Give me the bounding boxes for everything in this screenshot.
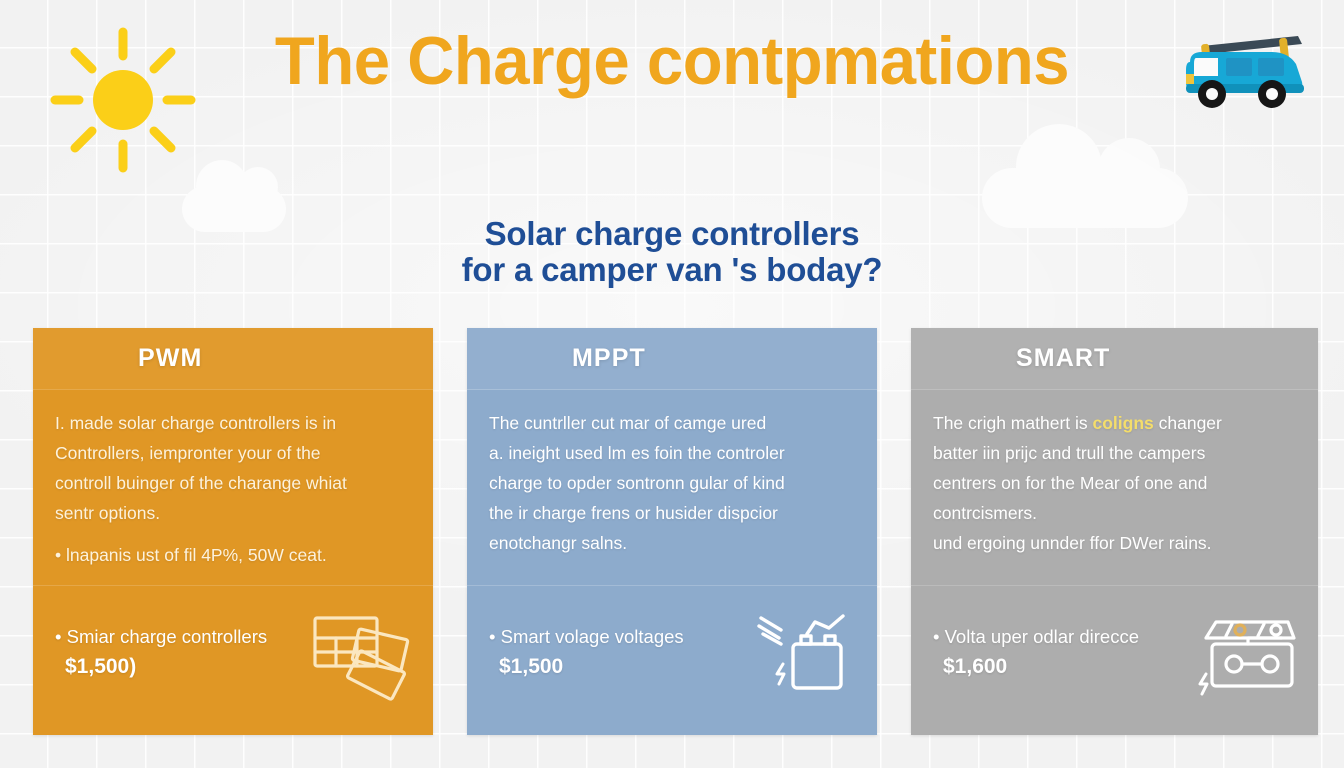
card-pwm-description: I. made solar charge controllers is in C… xyxy=(55,408,411,528)
card-pwm-body-line-1: I. made solar charge controllers is in xyxy=(55,413,336,433)
card-smart-header: SMART xyxy=(911,328,1318,390)
card-smart-body-line-3: centrers on for the Mear of one and xyxy=(933,473,1207,493)
card-pwm-footer: • Smiar charge controllers $1,500) xyxy=(33,585,433,735)
card-smart-highlight: coligns xyxy=(1093,413,1154,433)
card-mppt-footer-text: • Smart volage voltages $1,500 xyxy=(489,622,684,682)
solar-generator-box-icon xyxy=(1192,608,1300,704)
card-smart-title: SMART xyxy=(1016,344,1110,373)
card-pwm-body-line-4: sentr options. xyxy=(55,503,160,523)
card-mppt-footer-label: • Smart volage voltages xyxy=(489,626,684,647)
card-smart-body-pre-highlight: The crigh mathert is xyxy=(933,413,1093,433)
card-mppt-header: MPPT xyxy=(467,328,877,390)
page-subtitle: Solar charge controllers for a camper va… xyxy=(0,216,1344,288)
battery-charging-icon xyxy=(751,608,859,704)
infographic-canvas: The Charge contpmations Solar charge con… xyxy=(0,0,1344,768)
card-smart-footer-text: • Volta uper odlar direcce $1,600 xyxy=(933,622,1139,682)
card-pwm-body-line-2: Controllers, iempronter your of the xyxy=(55,443,321,463)
subtitle-line-1: Solar charge controllers xyxy=(485,215,860,252)
card-mppt-description: The cuntrller cut mar of camge ured a. i… xyxy=(489,408,855,558)
comparison-card-row: PWM I. made solar charge controllers is … xyxy=(33,328,1318,735)
card-mppt-body-line-2: a. ineight used lm es foin the controler xyxy=(489,443,785,463)
card-mppt-body-line-4: the ir charge frens or husider dispcior xyxy=(489,503,778,523)
card-mppt-footer-price: $1,500 xyxy=(489,652,684,682)
card-mppt-footer: • Smart volage voltages $1,500 xyxy=(467,585,877,735)
card-mppt-body-line-3: charge to opder sontronn gular of kind xyxy=(489,473,785,493)
card-mppt-body-line-1: The cuntrller cut mar of camge ured xyxy=(489,413,766,433)
card-pwm-footer-text: • Smiar charge controllers $1,500) xyxy=(55,622,267,682)
card-pwm-title: PWM xyxy=(138,344,202,373)
card-smart-footer: • Volta uper odlar direcce $1,600 xyxy=(911,585,1318,735)
card-pwm-header: PWM xyxy=(33,328,433,390)
card-smart-body-line-4: contrcismers. xyxy=(933,503,1037,523)
card-mppt-title: MPPT xyxy=(572,344,646,373)
page-title: The Charge contpmations xyxy=(27,22,1317,100)
card-pwm-body: I. made solar charge controllers is in C… xyxy=(33,390,433,585)
card-mppt-bullet: enotchangr salns. xyxy=(489,533,627,553)
card-smart-bullet: und ergoing unnder ffor DWer rains. xyxy=(933,533,1212,553)
card-smart-footer-price: $1,600 xyxy=(933,652,1139,682)
card-mppt-body: The cuntrller cut mar of camge ured a. i… xyxy=(467,390,877,585)
subtitle-line-2: for a camper van 's boday? xyxy=(0,252,1344,288)
card-smart-body: The crigh mathert is coligns changer bat… xyxy=(911,390,1318,585)
card-pwm-bullet: • lnapanis ust of fil 4P%, 50W ceat. xyxy=(55,540,411,570)
card-smart-body-post-highlight: changer xyxy=(1154,413,1222,433)
solar-panel-icon xyxy=(307,608,415,704)
card-smart[interactable]: SMART The crigh mathert is coligns chang… xyxy=(911,328,1318,735)
card-pwm-footer-price: $1,500) xyxy=(55,652,267,682)
card-smart-body-line-2: batter iin prijc and trull the campers xyxy=(933,443,1205,463)
card-smart-description: The crigh mathert is coligns changer bat… xyxy=(933,408,1296,558)
card-pwm-body-line-3: controll buinger of the charange whiat xyxy=(55,473,347,493)
card-mppt[interactable]: MPPT The cuntrller cut mar of camge ured… xyxy=(467,328,877,735)
card-pwm[interactable]: PWM I. made solar charge controllers is … xyxy=(33,328,433,735)
card-pwm-footer-label: • Smiar charge controllers xyxy=(55,626,267,647)
card-smart-footer-label: • Volta uper odlar direcce xyxy=(933,626,1139,647)
